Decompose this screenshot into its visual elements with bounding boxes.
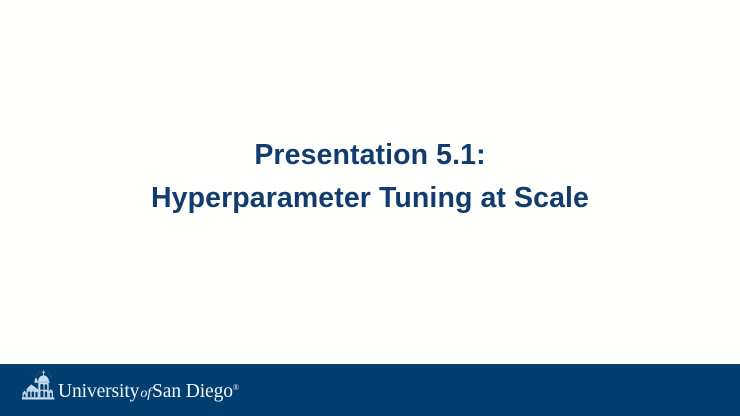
presentation-slide: Presentation 5.1: Hyperparameter Tuning … — [0, 0, 740, 416]
university-wordmark: UniversityofSan Diego® — [58, 378, 239, 404]
registered-trademark-icon: ® — [233, 383, 239, 392]
wordmark-university: University — [58, 381, 139, 402]
wordmark-san-diego: San Diego — [152, 381, 233, 402]
page-title: Presentation 5.1: Hyperparameter Tuning … — [0, 134, 740, 220]
university-logo: UniversityofSan Diego® — [22, 369, 239, 403]
wordmark-of: of — [139, 386, 152, 401]
title-line-2: Hyperparameter Tuning at Scale — [0, 177, 740, 220]
title-line-1: Presentation 5.1: — [0, 134, 740, 177]
usd-immaculata-church-icon — [22, 370, 56, 403]
